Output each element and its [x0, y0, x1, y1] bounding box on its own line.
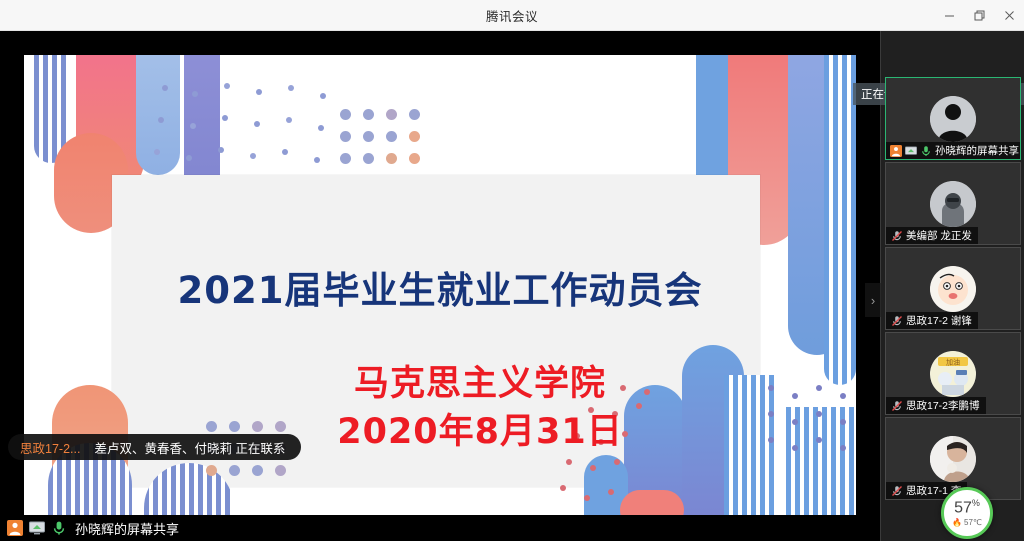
tile-info-bar: 美编部 龙正发 [886, 227, 978, 244]
share-bar-label: 孙晓辉的屏幕共享 [75, 519, 179, 538]
avatar [930, 436, 976, 482]
participant-icon [890, 144, 902, 157]
microphone-icon [920, 144, 932, 157]
microphone-muted-icon [890, 229, 903, 242]
tencent-meeting-window: 腾讯会议 [0, 0, 1024, 541]
maximize-restore-button[interactable] [964, 0, 994, 31]
avatar [930, 96, 976, 142]
close-button[interactable] [994, 0, 1024, 31]
microphone-muted-icon [890, 484, 903, 497]
flame-icon: 🔥 [952, 518, 962, 527]
participant-tile[interactable]: 思政17-2 谢锋 [885, 247, 1021, 330]
microphone-muted-icon [890, 314, 903, 327]
monitor-percent-value: 57 [954, 499, 972, 516]
participant-name: 孙晓辉的屏幕共享 [935, 143, 1019, 158]
participant-tile[interactable]: 美编部 龙正发 [885, 162, 1021, 245]
participant-tile[interactable]: 加油 思政17-2李鹏博 [885, 332, 1021, 415]
participants-icon[interactable] [6, 520, 23, 537]
avatar [930, 266, 976, 312]
avatar [930, 181, 976, 227]
decor-dotgrid-top [340, 109, 422, 167]
screen-share-icon[interactable] [28, 520, 45, 537]
decor-stripe-right [824, 55, 856, 385]
participant-name: 美编部 龙正发 [906, 228, 972, 243]
window-controls [934, 0, 1024, 31]
svg-text:加油: 加油 [946, 357, 960, 366]
microphone-muted-icon [890, 399, 903, 412]
monitor-percent-unit: % [972, 498, 980, 508]
monitor-percent: 57% [954, 499, 980, 516]
tile-info-bar: 思政17-2李鹏博 [886, 397, 986, 414]
system-monitor-widget[interactable]: 57% 🔥 57℃ [941, 487, 993, 539]
title-bar: 腾讯会议 [0, 0, 1024, 31]
participant-name: 思政17-2 谢锋 [906, 313, 972, 328]
participant-rail: › 正在讲话: 孙晓辉; [880, 31, 1024, 541]
tile-info-bar: 思政17-2 谢锋 [886, 312, 978, 329]
microphone-icon[interactable] [50, 520, 67, 537]
minimize-button[interactable] [934, 0, 964, 31]
slide-title: 2021届毕业生就业工作动员会 [24, 260, 856, 314]
participant-name: 思政17-2李鹏博 [906, 398, 980, 413]
chat-message-toast[interactable]: 思政17-2... 差卢双、黄春香、付晓莉 正在联系 [8, 434, 301, 460]
rail-collapse-button[interactable]: › [865, 283, 881, 317]
window-title: 腾讯会议 [486, 6, 538, 25]
participant-tile[interactable]: 孙晓辉的屏幕共享 [885, 77, 1021, 160]
monitor-temperature: 🔥 57℃ [952, 518, 982, 527]
screen-share-status-bar: 孙晓辉的屏幕共享 [0, 515, 860, 541]
participant-tiles: 孙晓辉的屏幕共享 [881, 31, 1024, 541]
chat-sender-name: 思政17-2... [20, 438, 80, 457]
monitor-temperature-value: 57℃ [964, 518, 982, 527]
avatar: 加油 [930, 351, 976, 397]
participant-tile[interactable]: 思政17-1 李 [885, 417, 1021, 500]
chat-message-text: 差卢双、黄春香、付晓莉 正在联系 [94, 438, 285, 457]
tile-info-bar: 孙晓辉的屏幕共享 [886, 142, 1021, 159]
slide-subtitle-org: 马克思主义学院 [156, 355, 804, 406]
screen-share-icon [905, 144, 917, 157]
